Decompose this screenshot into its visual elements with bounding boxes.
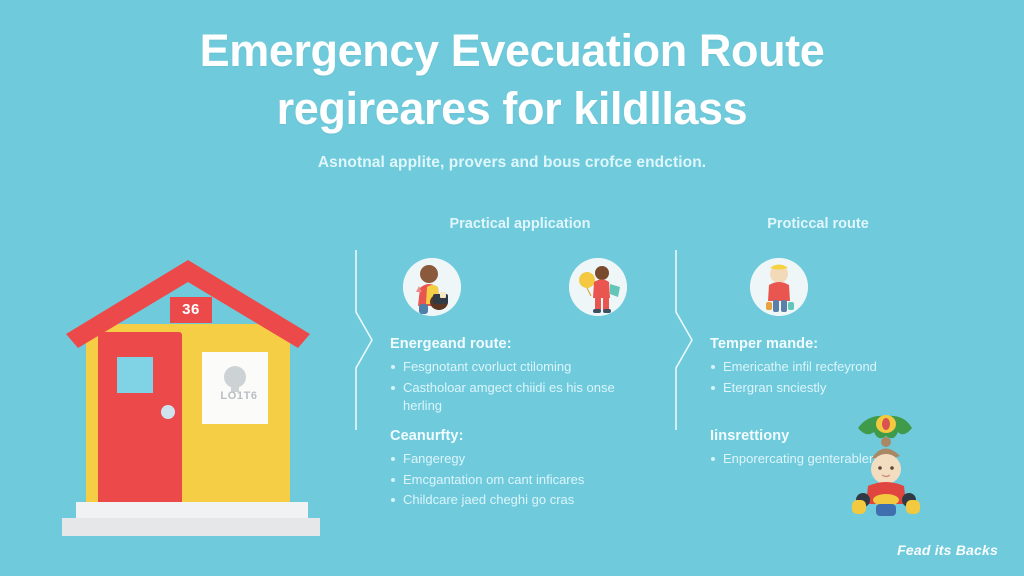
list-item: Fangeregy [390,450,655,469]
column-heading-left: Practical application [400,216,640,232]
text-block-left-1: Energeand route: Fesgnotant cvorluct cti… [390,336,655,418]
bullet-list: Emericathe infil recfeyrond Etergran snc… [710,358,945,397]
title-line-1: Emergency Evecuation Route [90,22,934,80]
page-subtitle: Asnotnal applite, provers and bous crofc… [0,154,1024,172]
house-number: 36 [170,301,212,318]
chevron-divider-icon [662,250,702,430]
list-item: Castholoar amgect chiidi es his onse her… [390,379,655,416]
chevron-divider-icon [342,250,382,430]
bullet-list: Fangeregy Emcgantation om cant inficares… [390,450,655,510]
title-line-2: regireares for kildllass [90,80,934,138]
header: Emergency Evecuation Route regireares fo… [0,22,1024,172]
avatar-children-reading [403,258,461,316]
seated-child-illustration [838,412,942,520]
block-title: Energeand route: [390,336,655,352]
list-item: Etergran snciestly [710,379,945,398]
text-block-right-1: Temper mande: Emericathe infil recfeyron… [710,336,945,399]
list-item: Childcare jaed cheghi go cras [390,491,655,510]
infographic-canvas: Emergency Evecuation Route regireares fo… [0,0,1024,576]
footer-watermark: Fead its Backs [897,542,998,558]
list-item: Emcgantation om cant inficares [390,471,655,490]
bullet-list: Fesgnotant cvorluct ctiloming Castholoar… [390,358,655,416]
avatar-child-standing [750,258,808,316]
house-illustration [62,252,337,540]
list-item: Fesgnotant cvorluct ctiloming [390,358,655,377]
poster-label: LO1T6 [205,390,273,402]
avatar-child-with-balloon [569,258,627,316]
block-title: Ceanurfty: [390,428,655,444]
column-heading-right: Proticcal route [698,216,938,232]
text-block-left-2: Ceanurfty: Fangeregy Emcgantation om can… [390,428,655,512]
block-title: Temper mande: [710,336,945,352]
list-item: Emericathe infil recfeyrond [710,358,945,377]
page-title: Emergency Evecuation Route regireares fo… [0,22,1024,138]
